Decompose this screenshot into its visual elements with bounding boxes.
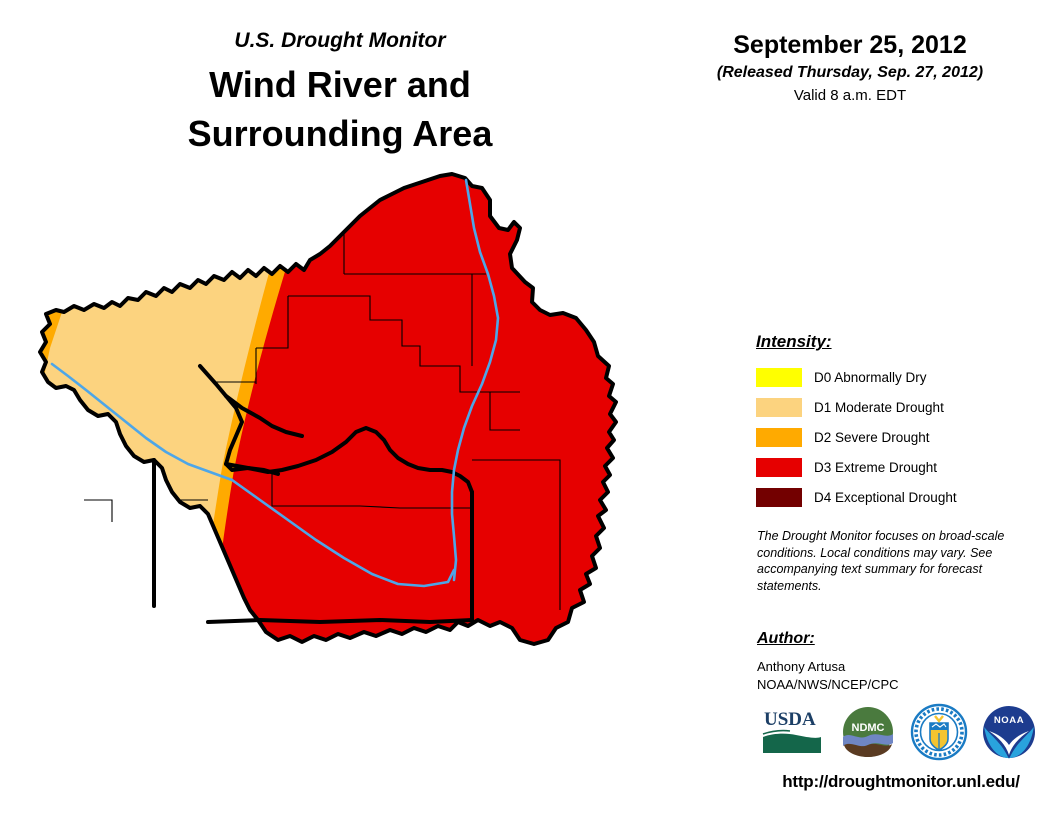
author-name: Anthony Artusa [757,658,1027,676]
legend-heading: Intensity: [756,332,1046,352]
legend-swatch-d3 [756,458,802,477]
ndmc-logo: NDMC [840,703,896,761]
svg-text:NOAA: NOAA [994,715,1024,726]
usda-logo: USDA [760,703,824,761]
disclaimer-text: The Drought Monitor focuses on broad-sca… [757,528,1019,594]
noaa-logo: NOAA [980,703,1038,761]
drought-map [20,170,720,750]
region-title-line-2: Surrounding Area [0,109,680,158]
title-block: U.S. Drought Monitor Wind River and Surr… [0,28,680,158]
website-url[interactable]: http://droughtmonitor.unl.edu/ [756,772,1046,792]
legend-item-d2: D2 Severe Drought [756,422,1046,452]
legend-label-d2: D2 Severe Drought [814,430,930,445]
legend-swatch-d4 [756,488,802,507]
legend-item-d3: D3 Extreme Drought [756,452,1046,482]
svg-text:USDA: USDA [764,709,816,730]
svg-text:NDMC: NDMC [852,722,885,734]
program-label: U.S. Drought Monitor [0,28,680,54]
region-title-line-1: Wind River and [0,60,680,109]
release-date: (Released Thursday, Sep. 27, 2012) [690,62,1010,84]
date-block: September 25, 2012 (Released Thursday, S… [690,30,1010,106]
author-block: Author: Anthony Artusa NOAA/NWS/NCEP/CPC [757,630,1027,694]
valid-time: Valid 8 a.m. EDT [690,86,1010,106]
legend-label-d3: D3 Extreme Drought [814,460,937,475]
logo-row: USDA NDMC NOAA [760,703,1040,765]
legend-panel: Intensity: D0 Abnormally Dry D1 Moderate… [756,332,1046,512]
legend-label-d1: D1 Moderate Drought [814,400,944,415]
legend-label-d0: D0 Abnormally Dry [814,370,927,385]
legend-swatch-d1 [756,398,802,417]
legend-swatch-d2 [756,428,802,447]
page-title: Wind River and Surrounding Area [0,60,680,158]
d3-extreme-drought-area [20,170,720,750]
legend-item-d0: D0 Abnormally Dry [756,362,1046,392]
author-heading: Author: [757,630,1027,648]
legend-item-d4: D4 Exceptional Drought [756,482,1046,512]
legend-swatch-d0 [756,368,802,387]
unl-seal-logo [910,703,968,761]
legend-label-d4: D4 Exceptional Drought [814,490,957,505]
valid-date: September 25, 2012 [690,30,1010,60]
author-affiliation: NOAA/NWS/NCEP/CPC [757,676,1027,694]
legend-item-d1: D1 Moderate Drought [756,392,1046,422]
